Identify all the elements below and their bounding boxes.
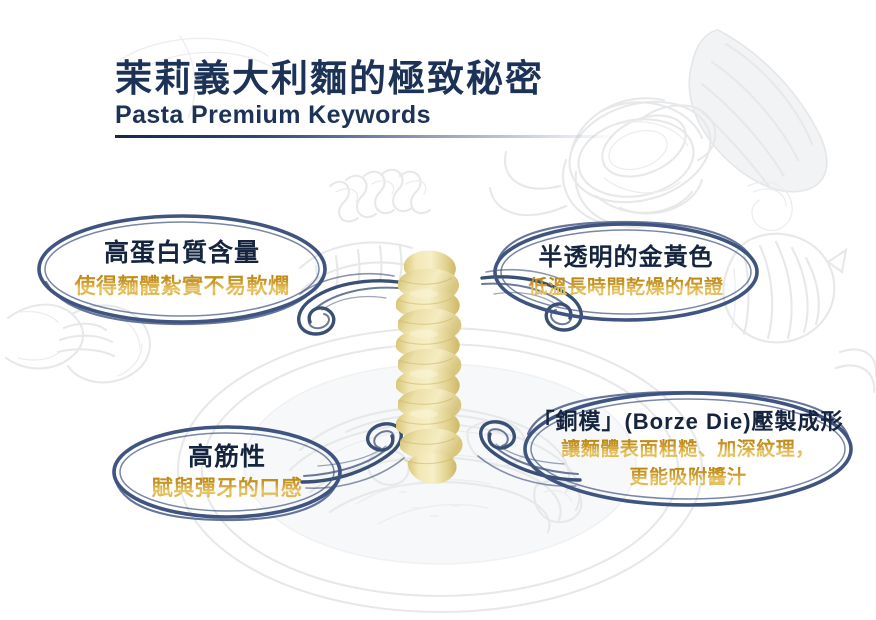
bubble-text-color: 半透明的金黃色 低溫長時間乾燥的保證 [488, 244, 764, 299]
bubble-headline-bronze-die: 「銅模」(Borze Die)壓製成形 [518, 409, 858, 434]
fusilli-pasta-image [382, 248, 482, 490]
bubble-headline-color: 半透明的金黃色 [488, 244, 764, 272]
bubble-subtext-bronze-die-line2: 更能吸附醬汁 [518, 467, 858, 490]
callout-bubble-protein: 高蛋白質含量 使得麵體紮實不易軟爛 [32, 208, 332, 330]
bubble-subtext-bronze-die-line1: 讓麵體表面粗糙、加深紋理， [518, 439, 858, 462]
poster-header: 茉莉義大利麵的極致秘密 Pasta Premium Keywords [115, 58, 735, 138]
bubble-text-gluten: 高筋性 賦與彈牙的口感 [108, 443, 346, 502]
bubble-subtext-color: 低溫長時間乾燥的保證 [488, 277, 764, 300]
bubble-subtext-protein: 使得麵體紮實不易軟爛 [32, 274, 332, 299]
callout-bubble-gluten: 高筋性 賦與彈牙的口感 [108, 420, 346, 524]
callout-bubble-color: 半透明的金黃色 低溫長時間乾燥的保證 [488, 216, 764, 328]
page-title-chinese: 茉莉義大利麵的極致秘密 [115, 58, 735, 99]
title-underline-rule [115, 135, 615, 138]
bubble-subtext-gluten: 賦與彈牙的口感 [108, 476, 346, 501]
bubble-text-protein: 高蛋白質含量 使得麵體紮實不易軟爛 [32, 239, 332, 299]
bubble-text-bronze-die: 「銅模」(Borze Die)壓製成形 讓麵體表面粗糙、加深紋理， 更能吸附醬汁 [518, 409, 858, 490]
fusilli-illustration [330, 170, 430, 222]
bubble-headline-protein: 高蛋白質含量 [32, 239, 332, 268]
page-title-english: Pasta Premium Keywords [115, 101, 735, 130]
infographic-poster: .wk { fill:none; stroke:#e7e8ea; stroke-… [0, 0, 876, 620]
bubble-headline-gluten: 高筋性 [108, 443, 346, 472]
callout-bubble-bronze-die: 「銅模」(Borze Die)壓製成形 讓麵體表面粗糙、加深紋理， 更能吸附醬汁 [518, 386, 858, 512]
